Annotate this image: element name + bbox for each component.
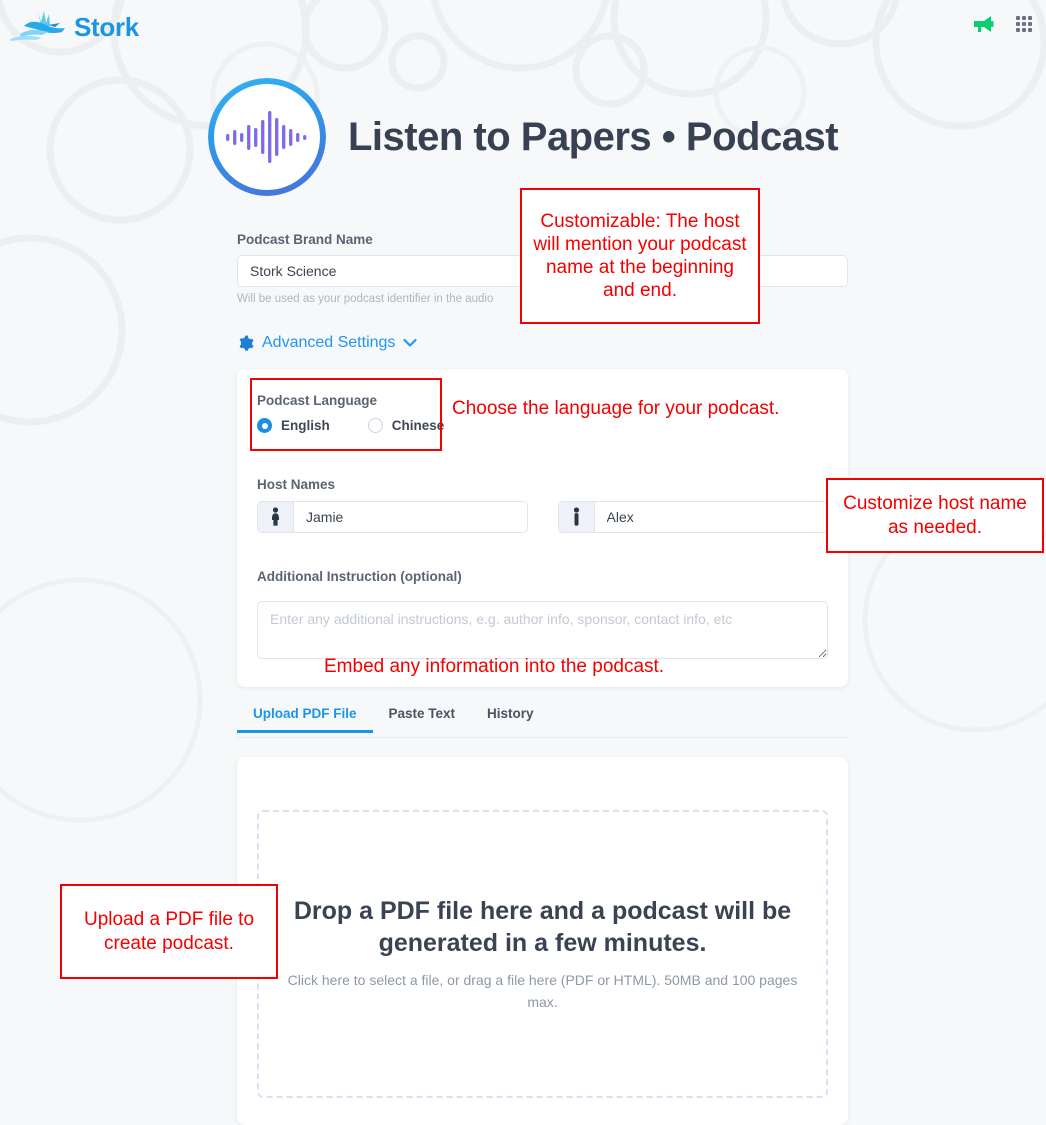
host-name-input-1[interactable]: [294, 502, 527, 532]
gear-icon: [237, 335, 254, 352]
additional-instruction-textarea[interactable]: [257, 601, 828, 659]
page-title: Listen to Papers • Podcast: [348, 115, 838, 160]
app-grid-icon[interactable]: [1016, 16, 1032, 32]
annotation-host-name: Customize host name as needed.: [826, 478, 1044, 553]
top-bar: Stork: [0, 0, 1046, 56]
app-logo-text: Stork: [74, 12, 139, 43]
dropzone-subtitle: Click here to select a file, or drag a f…: [288, 970, 798, 1013]
female-person-icon: [258, 502, 294, 532]
stork-bird-icon: [8, 8, 72, 46]
upload-panel: Drop a PDF file here and a podcast will …: [237, 757, 848, 1125]
host-name-input-2[interactable]: [595, 502, 828, 532]
host-name-field-2[interactable]: [558, 501, 829, 533]
annotation-language: Choose the language for your podcast.: [452, 398, 779, 420]
annotation-embed-info: Embed any information into the podcast.: [324, 656, 664, 678]
podcast-waveform-icon: [208, 78, 326, 196]
additional-instruction-group: Additional Instruction (optional): [257, 569, 828, 664]
additional-instruction-label: Additional Instruction (optional): [257, 569, 828, 584]
annotation-upload-pdf: Upload a PDF file to create podcast.: [60, 884, 278, 979]
page-header: Listen to Papers • Podcast: [0, 78, 1046, 196]
host-name-field-1[interactable]: [257, 501, 528, 533]
host-names-group: Host Names: [257, 477, 828, 533]
pdf-dropzone[interactable]: Drop a PDF file here and a podcast will …: [257, 810, 828, 1098]
dropzone-title: Drop a PDF file here and a podcast will …: [293, 895, 793, 960]
advanced-settings-toggle[interactable]: Advanced Settings: [237, 334, 417, 352]
app-logo[interactable]: Stork: [8, 8, 139, 46]
tab-paste-text[interactable]: Paste Text: [373, 706, 472, 730]
chevron-down-icon: [403, 338, 417, 348]
advanced-settings-label: Advanced Settings: [262, 334, 395, 352]
annotation-brand-name: Customizable: The host will mention your…: [520, 188, 760, 324]
annotation-language-highlight-box: [250, 378, 442, 451]
content-source-tabs: Upload PDF File Paste Text History: [237, 706, 848, 738]
tab-history[interactable]: History: [471, 706, 550, 730]
tab-upload-pdf-file[interactable]: Upload PDF File: [237, 706, 373, 733]
host-names-label: Host Names: [257, 477, 828, 492]
top-bar-actions: [972, 14, 1032, 34]
male-person-icon: [559, 502, 595, 532]
megaphone-icon[interactable]: [972, 14, 994, 34]
